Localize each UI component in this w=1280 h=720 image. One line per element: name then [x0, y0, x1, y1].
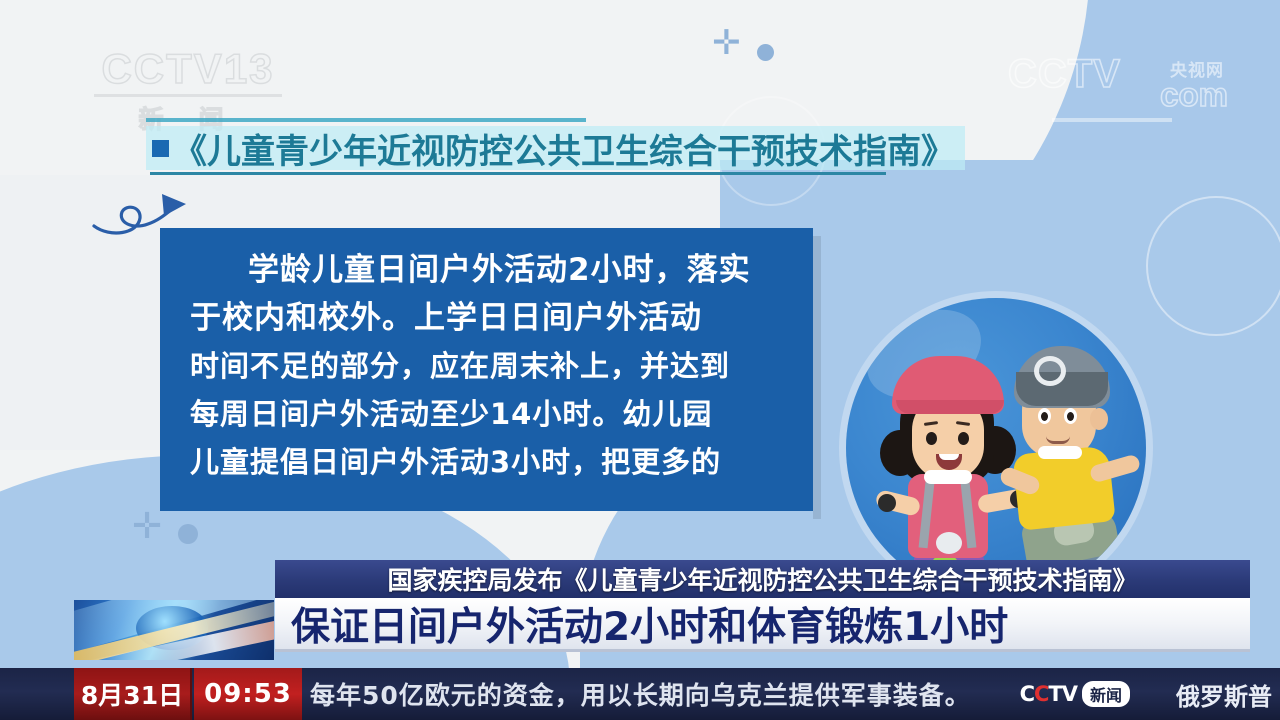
- cctv-com-watermark: CCTV 央视网 com: [1008, 52, 1228, 114]
- content-line-4: 每周日间户外活动至少14小时。幼儿园: [190, 390, 783, 438]
- lower-third-headline: 保证日间户外活动2小时和体育锻炼1小时: [291, 596, 1008, 652]
- slide-title-text: 《儿童青少年近视防控公共卫生综合干预技术指南》: [173, 124, 955, 173]
- kids-illustration-bubble: [846, 298, 1146, 598]
- title-top-rule: [146, 118, 586, 122]
- content-line-2: 于校内和校外。上学日日间户外活动: [190, 294, 783, 342]
- decorative-dot-1: [757, 44, 774, 61]
- lower-third-subtitle-bar: 国家疾控局发布《儿童青少年近视防控公共卫生综合干预技术指南》: [275, 560, 1250, 598]
- title-underline: [150, 172, 886, 175]
- girl-wrist-guard-left: [878, 494, 896, 512]
- content-line-3: 时间不足的部分，应在周末补上，并达到: [190, 342, 783, 390]
- content-line-1: 学龄儿童日间户外活动2小时，落实: [190, 246, 783, 294]
- news-ticker-text: 每年50亿欧元的资金，用以长期向乌克兰提供军事装备。: [310, 668, 971, 720]
- boy-pupil-right: [1067, 412, 1074, 421]
- girl-buckle: [936, 532, 962, 554]
- girl-helmet: [892, 356, 1004, 414]
- cctv-logo-bar: [94, 94, 282, 97]
- title-bullet-square-icon: [152, 140, 169, 157]
- cctv-news-logo: CCTV 新闻: [1020, 680, 1130, 708]
- news-program-logo: [74, 600, 274, 660]
- broadcast-date: 8月31日: [74, 668, 192, 720]
- slide-content-box: 学龄儿童日间户外活动2小时，落实 于校内和校外。上学日日间户外活动 时间不足的部…: [160, 228, 813, 511]
- content-line-5: 儿童提倡日间户外活动3小时，把更多的: [190, 438, 783, 486]
- cctv-com-suffix: com: [1160, 76, 1228, 114]
- boy-collar: [1038, 446, 1082, 459]
- broadcast-screen: ✛ ✛ CCTV13 新 闻 CCTV 央视网 com 《儿童青少年近视防控公共…: [0, 0, 1280, 720]
- girl-eye-right: [958, 432, 969, 445]
- decorative-dot-2: [178, 524, 198, 544]
- decorative-circle-1: [1146, 196, 1280, 336]
- decorative-line-1: [1052, 118, 1172, 122]
- boy-ear: [1090, 408, 1108, 430]
- cctv-news-badge: 新闻: [1082, 681, 1130, 707]
- girl-eye-left: [926, 432, 937, 445]
- decorative-plus-2: ✛: [132, 508, 162, 544]
- cctv-logo-number: 13: [224, 45, 275, 92]
- bottom-ticker-bar: 8月31日 09:53 每年50亿欧元的资金，用以长期向乌克兰提供军事装备。 C…: [0, 668, 1280, 720]
- cctv-news-wordmark: CCTV: [1020, 682, 1077, 706]
- cctv-logo-text: CCTV: [101, 45, 223, 92]
- decorative-plus-1: ✛: [712, 26, 741, 60]
- boy-pupil-left: [1041, 412, 1048, 421]
- broadcast-clock: 09:53: [194, 668, 302, 720]
- slide-title-bar: 《儿童青少年近视防控公共卫生综合干预技术指南》: [146, 126, 965, 170]
- boy-helmet-vent: [1034, 356, 1066, 386]
- content-box-shadow: [813, 236, 821, 519]
- lower-third-subtitle: 国家疾控局发布《儿童青少年近视防控公共卫生综合干预技术指南》: [387, 561, 1137, 597]
- lower-third-headline-bar: 保证日间户外活动2小时和体育锻炼1小时: [275, 598, 1250, 652]
- ticker-next-item: 俄罗斯普: [1176, 668, 1272, 720]
- girl-collar: [924, 470, 972, 484]
